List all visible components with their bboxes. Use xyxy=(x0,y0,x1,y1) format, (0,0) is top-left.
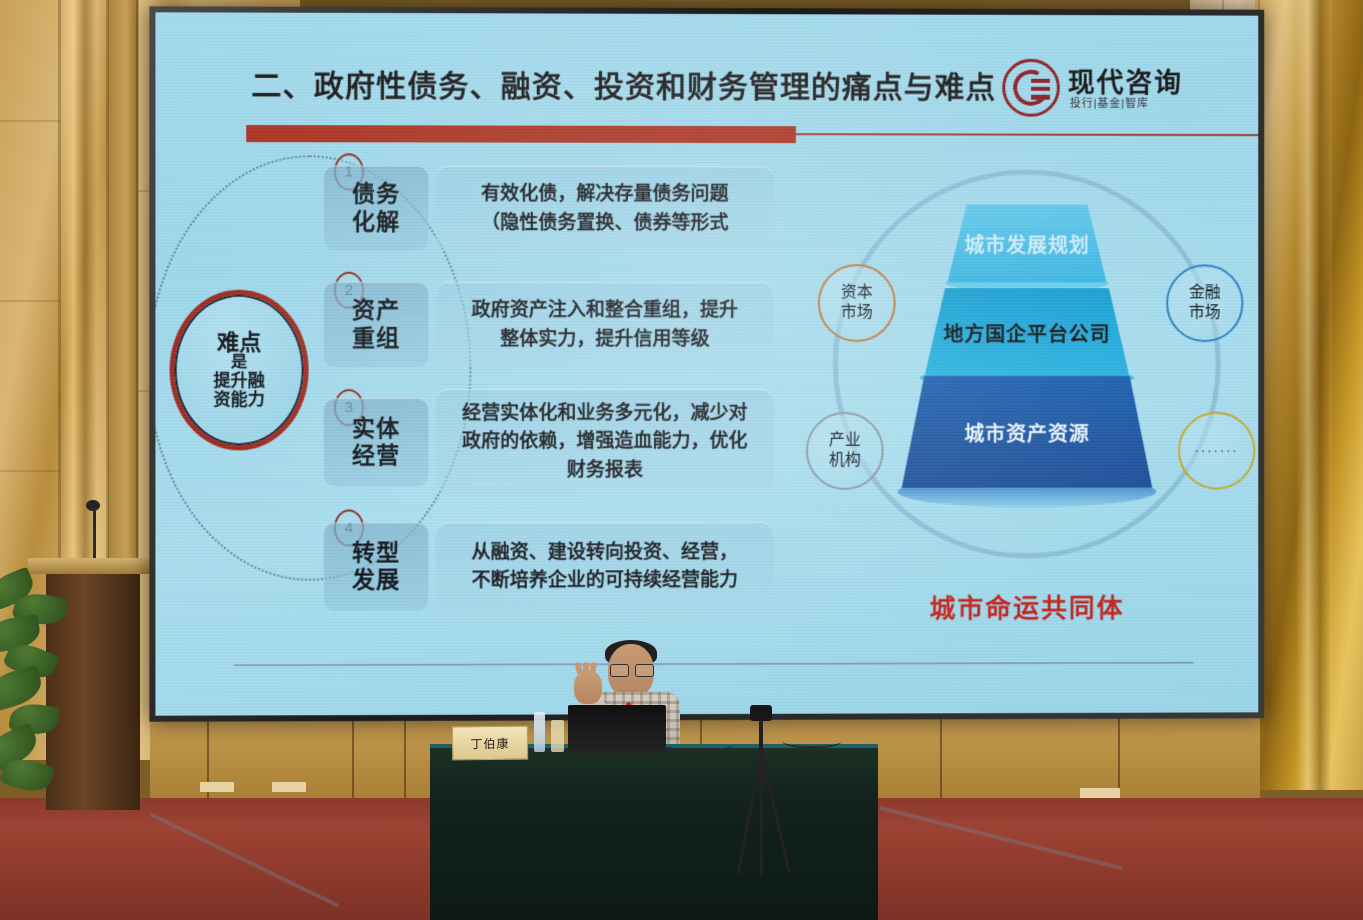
stone-joint xyxy=(0,120,60,122)
step-label-1: 债务 化解 xyxy=(324,165,429,250)
step-label-2: 资产 重组 xyxy=(324,282,429,367)
water-bottle xyxy=(534,712,545,752)
bubble-financial-market: 金融 市场 xyxy=(1166,264,1243,342)
step-description-3: 经营实体化和业务多元化，减少对 政府的依赖，增强造血能力，优化 财务报表 xyxy=(435,389,774,494)
slide-title: 二、政府性债务、融资、投资和财务管理的痛点与难点 xyxy=(251,61,996,107)
city-platform-funnel: 城市发展规划 地方国企平台公司 城市资产资源 xyxy=(898,204,1157,513)
stone-joint xyxy=(0,470,60,472)
hub-line-2: 是 xyxy=(231,354,247,372)
led-presentation-screen: 二、政府性债务、融资、投资和财务管理的痛点与难点 现代咨询 投行|基金|智库 难… xyxy=(149,6,1264,721)
company-logo: 现代咨询 投行|基金|智库 xyxy=(1002,59,1193,121)
center-hub-circle: 难点 是 提升融 资能力 xyxy=(170,290,309,451)
floor-vent xyxy=(200,782,234,792)
bubble-capital-market: 资本 市场 xyxy=(818,264,896,342)
step-description-1: 有效化债，解决存量债务问题 （隐性债务置换、债券等形式 xyxy=(435,166,774,252)
step-description-4: 从融资、建设转向投资、经营， 不断培养企业的可持续经营能力 xyxy=(435,522,774,611)
screen-surface: 二、政府性债务、融资、投资和财务管理的痛点与难点 现代咨询 投行|基金|智库 难… xyxy=(155,12,1258,715)
funnel-tier-2: 地方国企平台公司 xyxy=(925,288,1130,376)
right-wall-highlight xyxy=(1296,0,1332,790)
bubble-ellipsis: ······· xyxy=(1178,412,1255,490)
step-description-2: 政府资产注入和整合重组，提升 整体实力，提升信用等级 xyxy=(435,282,774,367)
floor-vent xyxy=(1080,788,1120,798)
logo-circle-c-icon xyxy=(1002,59,1060,117)
presenter-raised-hand xyxy=(574,670,602,704)
funnel-tier-1: 城市发展规划 xyxy=(947,204,1106,282)
video-camera xyxy=(750,705,772,721)
logo-e-glyph-icon xyxy=(1031,79,1050,100)
presenter-glasses-icon xyxy=(610,664,652,675)
hub-line-1: 难点 xyxy=(217,331,261,354)
funnel-caption: 城市命运共同体 xyxy=(898,588,1157,625)
desk-cable xyxy=(664,735,734,751)
camera-tripod xyxy=(735,748,787,876)
title-accent-bar xyxy=(246,125,796,143)
podium-microphone-stem xyxy=(93,508,96,564)
presenter-nameplate: 丁伯康 xyxy=(452,726,528,761)
conference-hall-photo: 二、政府性债务、融资、投资和财务管理的痛点与难点 现代咨询 投行|基金|智库 难… xyxy=(0,0,1363,920)
slide-footer-rule xyxy=(234,662,1194,667)
potted-plant xyxy=(0,560,104,800)
bubble-industry-institutions: 产业 机构 xyxy=(806,412,884,490)
hub-line-3: 提升融 资能力 xyxy=(213,372,264,409)
floor-vent xyxy=(272,782,306,792)
logo-tagline: 投行|基金|智库 xyxy=(1070,95,1149,111)
stone-joint xyxy=(0,300,60,302)
camera-mount xyxy=(759,721,763,749)
head-table-skirt xyxy=(430,748,878,920)
step-label-4: 转型 发展 xyxy=(324,522,429,610)
tea-cup xyxy=(551,720,564,752)
desk-cable xyxy=(782,730,842,748)
funnel-tier-3: 城市资产资源 xyxy=(902,376,1153,488)
presentation-slide: 二、政府性债务、融资、投资和财务管理的痛点与难点 现代咨询 投行|基金|智库 难… xyxy=(155,12,1258,715)
step-label-3: 实体 经营 xyxy=(324,398,429,486)
laptop xyxy=(568,705,666,753)
title-accent-line xyxy=(796,133,1258,136)
